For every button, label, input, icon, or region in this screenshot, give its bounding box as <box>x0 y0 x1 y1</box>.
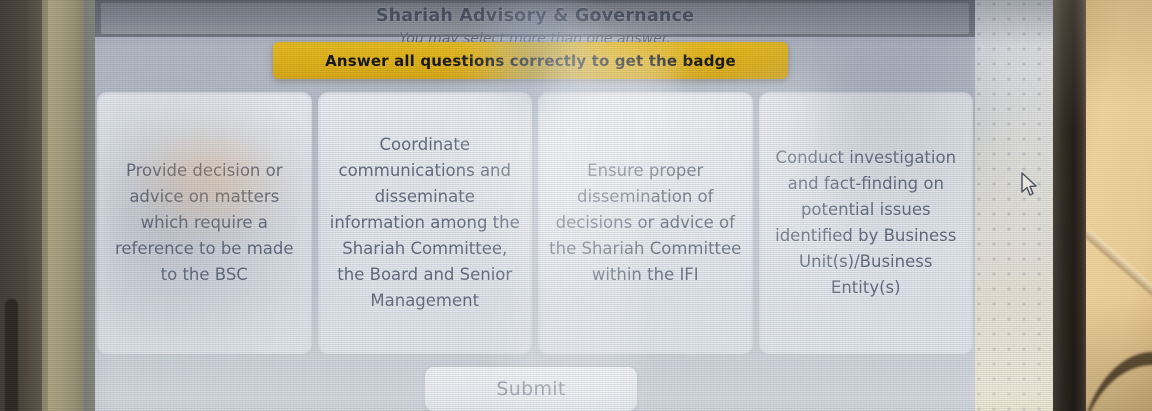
left-texture <box>0 0 100 411</box>
answer-option-label: Ensure proper dissemination of decisions… <box>549 158 742 288</box>
answer-option-label: Provide decision or advice on matters wh… <box>108 158 301 288</box>
answer-option-label: Coordinate communications and disseminat… <box>329 132 522 314</box>
answer-option-card[interactable]: Provide decision or advice on matters wh… <box>97 92 312 354</box>
badge-tooltip-text: Answer all questions correctly to get th… <box>325 52 736 70</box>
right-margin-pattern <box>975 0 1053 411</box>
answer-option-label: Conduct investigation and fact-finding o… <box>770 145 963 301</box>
quiz-application: Shariah Advisory & Governance You may se… <box>95 0 975 411</box>
answer-options-row: Provide decision or advice on matters wh… <box>95 92 975 354</box>
question-header: Shariah Advisory & Governance You may se… <box>95 0 975 47</box>
wall-texture <box>1080 0 1152 411</box>
badge-tooltip-banner: Answer all questions correctly to get th… <box>273 42 788 79</box>
answer-option-card[interactable]: Ensure proper dissemination of decisions… <box>538 92 753 354</box>
monitor-photo: Shariah Advisory & Governance You may se… <box>0 0 1152 411</box>
submit-button[interactable]: Submit <box>425 367 637 411</box>
answer-option-card[interactable]: Conduct investigation and fact-finding o… <box>759 92 974 354</box>
submit-button-label: Submit <box>496 378 565 400</box>
mouse-arrow-cursor <box>1020 172 1040 198</box>
answer-option-card[interactable]: Coordinate communications and disseminat… <box>318 92 533 354</box>
page-title: Shariah Advisory & Governance <box>95 6 975 26</box>
monitor-screen: Shariah Advisory & Governance You may se… <box>95 0 1053 411</box>
